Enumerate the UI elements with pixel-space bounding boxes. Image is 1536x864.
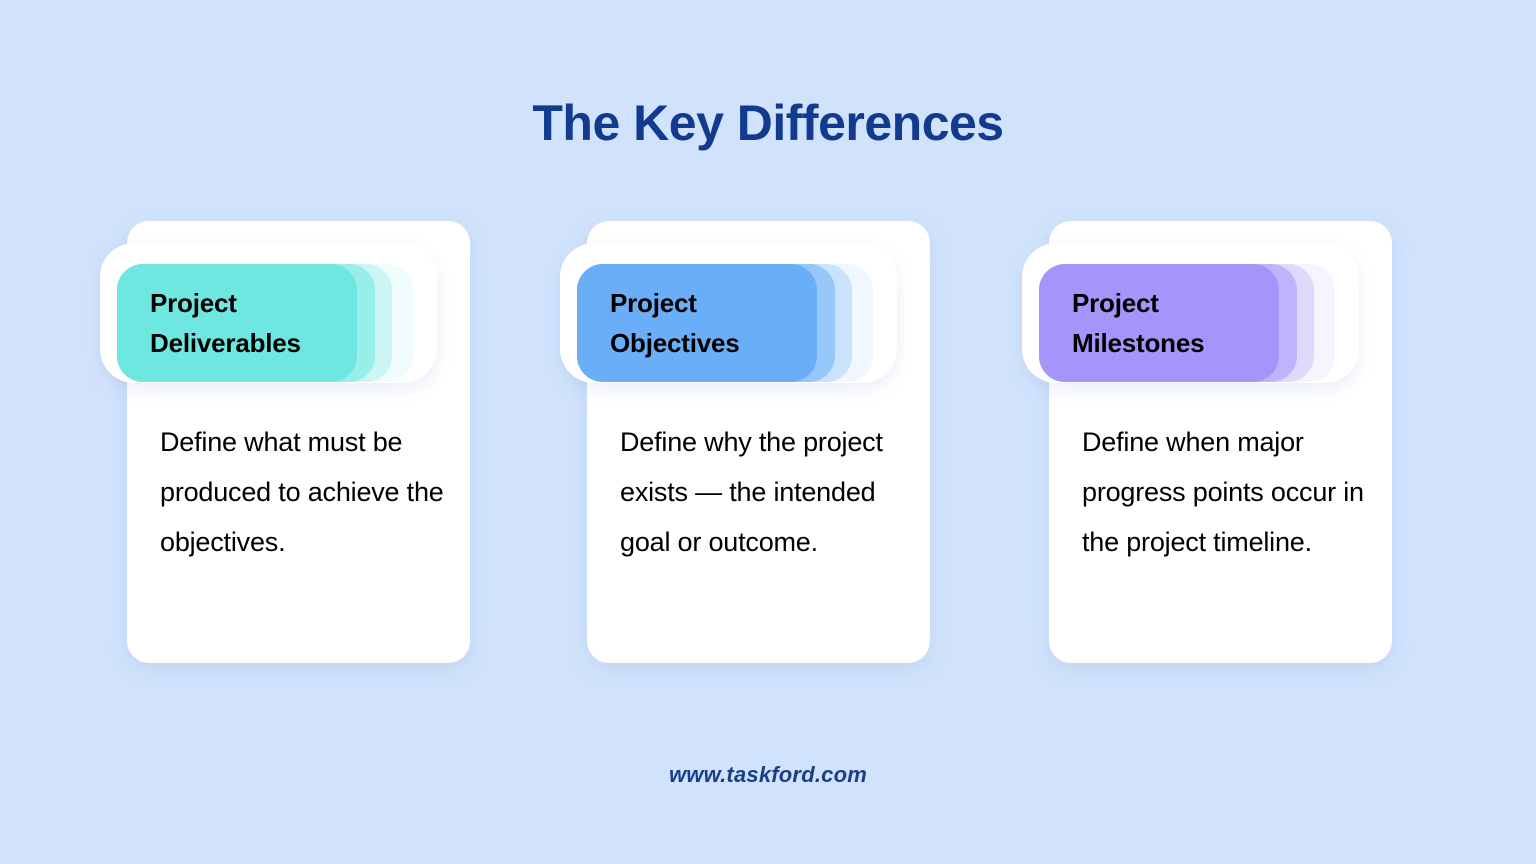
card-title: Project Milestones xyxy=(1039,264,1279,382)
card-header-pill-stack: Project Deliverables xyxy=(100,253,520,373)
card-description: Define why the project exists — the inte… xyxy=(620,417,912,567)
footer-website-url[interactable]: www.taskford.com xyxy=(0,762,1536,788)
card-title: Project Deliverables xyxy=(117,264,357,382)
card-project-objectives: Project Objectives Define why the projec… xyxy=(587,221,930,663)
card-title: Project Objectives xyxy=(577,264,817,382)
card-project-deliverables: Project Deliverables Define what must be… xyxy=(127,221,470,663)
card-header-pill-stack: Project Objectives xyxy=(560,253,980,373)
comparison-cards: Project Deliverables Define what must be… xyxy=(0,221,1536,681)
card-header-pill-stack: Project Milestones xyxy=(1022,253,1442,373)
card-description: Define what must be produced to achieve … xyxy=(160,417,452,567)
page-title: The Key Differences xyxy=(0,95,1536,153)
card-project-milestones: Project Milestones Define when major pro… xyxy=(1049,221,1392,663)
card-description: Define when major progress points occur … xyxy=(1082,417,1374,567)
